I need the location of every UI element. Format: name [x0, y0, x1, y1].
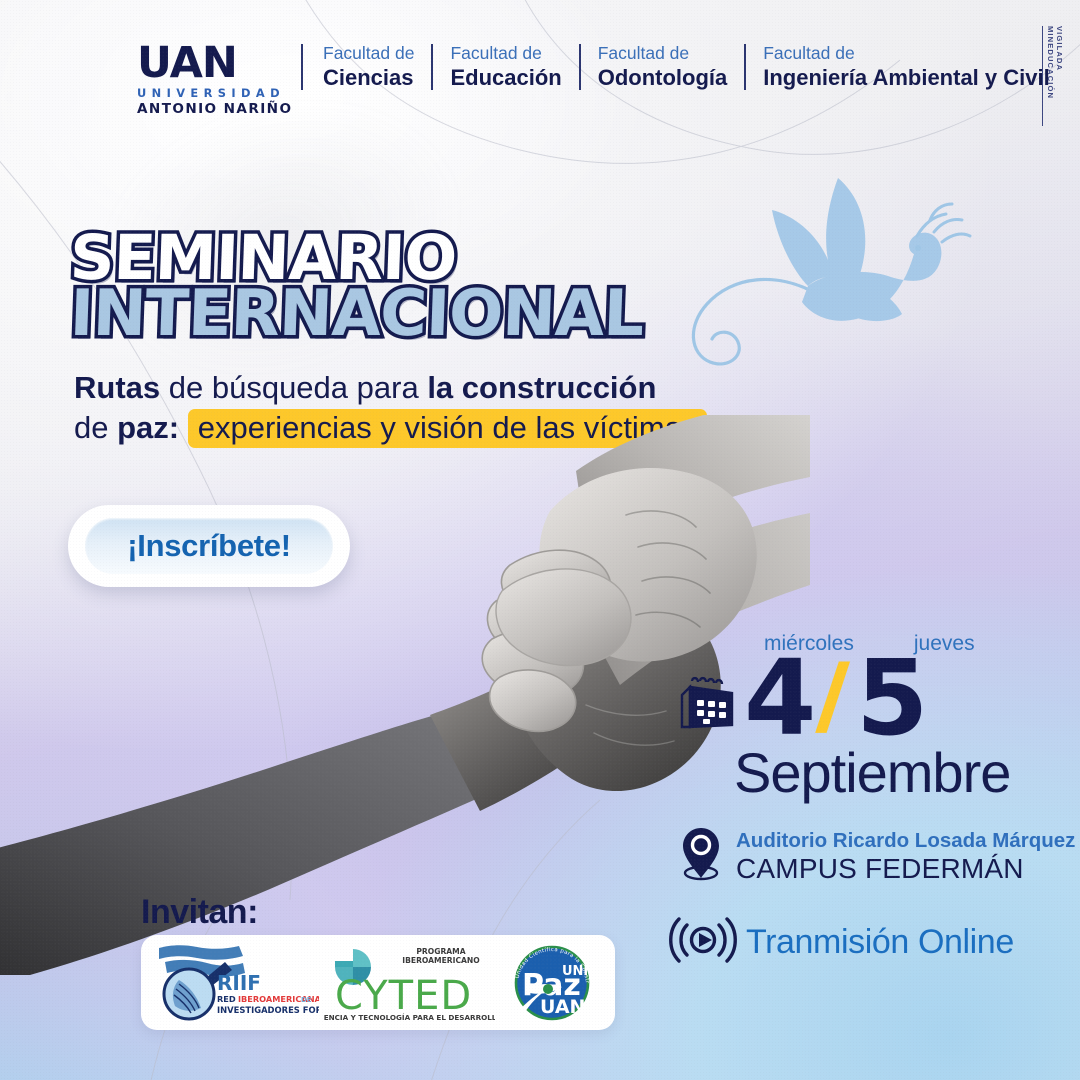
- uan-logo-line2: ANTONIO NARIÑO: [137, 101, 277, 117]
- sponsor-logo-riif: RIIF RED IBEROAMERICANA DE INVESTIGADORE…: [141, 935, 321, 1030]
- sponsor-logo-cyted: PROGRAMA IBEROAMERICANO CYTED CIENCIA Y …: [321, 935, 496, 1030]
- subtitle-row-1: Rutas de búsqueda para la construcción: [74, 368, 754, 408]
- svg-text:RED: RED: [217, 994, 236, 1004]
- faculty-item-ciencias: Facultad de Ciencias: [301, 44, 431, 90]
- sponsors-logo-bar: RIIF RED IBEROAMERICANA DE INVESTIGADORE…: [141, 935, 615, 1030]
- event-month: Septiembre: [734, 740, 1036, 805]
- faculty-eyebrow: Facultad de: [450, 44, 561, 64]
- online-stream-label: Tranmisión Online: [746, 923, 1014, 962]
- event-date-block: miércoles jueves: [676, 632, 1036, 805]
- header: UAN UNIVERSIDAD ANTONIO NARIÑO Facultad …: [0, 44, 1080, 128]
- uan-logo-mark: UAN: [137, 44, 277, 83]
- map-pin-icon: [678, 826, 724, 889]
- faculty-name: Odontología: [598, 66, 728, 91]
- faculty-item-educacion: Facultad de Educación: [431, 44, 578, 90]
- title-line-2: INTERNACIONAL: [70, 284, 770, 345]
- faculty-item-odontologia: Facultad de Odontología: [579, 44, 745, 90]
- date-numbers-row: 4 / 5: [676, 652, 1036, 746]
- svg-text:UNI: UNI: [562, 964, 588, 979]
- calendar-icon: [676, 675, 740, 740]
- svg-text:IBEROAMERICANO: IBEROAMERICANO: [402, 956, 480, 965]
- event-day-1: 4: [744, 652, 813, 746]
- event-day-2: 5: [856, 652, 925, 746]
- subtitle-text-1: de búsqueda para: [160, 370, 427, 405]
- venue-auditorium: Auditorio Ricardo Losada Márquez: [736, 830, 1075, 853]
- uan-logo-line1: UNIVERSIDAD: [137, 86, 277, 100]
- uan-logo: UAN UNIVERSIDAD ANTONIO NARIÑO: [137, 44, 277, 117]
- faculty-name: Ciencias: [323, 66, 414, 91]
- faculty-name: Educación: [450, 66, 561, 91]
- faculty-eyebrow: Facultad de: [598, 44, 728, 64]
- faculty-eyebrow: Facultad de: [323, 44, 414, 64]
- broadcast-icon: [668, 912, 738, 973]
- faculty-item-ingenieria: Facultad de Ingeniería Ambiental y Civil: [744, 44, 1066, 90]
- svg-text:DE: DE: [301, 996, 312, 1004]
- svg-text:PROGRAMA: PROGRAMA: [416, 947, 465, 956]
- faculty-list: Facultad de Ciencias Facultad de Educaci…: [301, 44, 1067, 90]
- poster-canvas: UAN UNIVERSIDAD ANTONIO NARIÑO Facultad …: [0, 0, 1080, 1080]
- svg-text:RIIF: RIIF: [217, 971, 261, 995]
- svg-text:CIENCIA Y TECNOLOGÍA PARA EL D: CIENCIA Y TECNOLOGÍA PARA EL DESARROLLO: [323, 1013, 495, 1022]
- venue-campus: CAMPUS FEDERMÁN: [736, 853, 1075, 884]
- vigilada-mineducacion-label: VIGILADA MINEDUCACIÓN: [1042, 26, 1064, 126]
- sponsor-logo-unipaz-uan: Unidad Científica para la Construcción d…: [496, 935, 608, 1030]
- date-separator: /: [813, 656, 852, 742]
- svg-text:UAN: UAN: [540, 996, 585, 1018]
- venue-block: Auditorio Ricardo Losada Márquez CAMPUS …: [678, 826, 1075, 889]
- subtitle-bold-construccion: la construcción: [427, 370, 656, 405]
- venue-text: Auditorio Ricardo Losada Márquez CAMPUS …: [736, 830, 1075, 884]
- faculty-name: Ingeniería Ambiental y Civil: [763, 66, 1049, 91]
- page-title: SEMINARIO INTERNACIONAL: [70, 228, 770, 345]
- sponsors-heading: Invitan:: [141, 893, 258, 932]
- online-stream-block: Tranmisión Online: [668, 912, 1014, 973]
- svg-text:INVESTIGADORES FORENSES: INVESTIGADORES FORENSES: [217, 1005, 319, 1015]
- faculty-eyebrow: Facultad de: [763, 44, 1049, 64]
- subtitle-bold-rutas: Rutas: [74, 370, 160, 405]
